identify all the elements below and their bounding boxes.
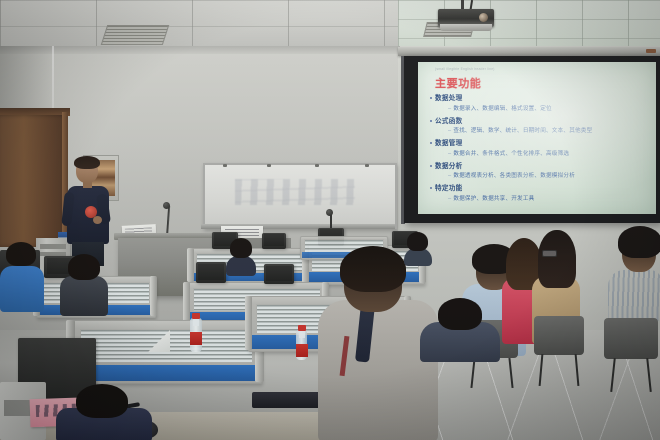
projected-slide: (small illegible English header line) 主要… (418, 62, 656, 214)
chair-leg (610, 358, 616, 392)
soda-bottle (190, 318, 202, 352)
monitor-screen (264, 234, 284, 246)
partition-post (183, 282, 190, 324)
partition-post (187, 248, 194, 282)
bottle-cap (192, 313, 200, 319)
chair-leg (508, 358, 513, 388)
projector-base (440, 24, 492, 31)
student-mid-row (420, 300, 500, 360)
monitor-screen (266, 266, 291, 281)
chair-leg (575, 354, 580, 386)
soda-bottle (296, 330, 307, 360)
whiteboard-clip (365, 164, 369, 167)
monitor (264, 264, 294, 284)
projector-lens-icon (479, 13, 488, 22)
bottle-label (190, 332, 202, 345)
chair-back (604, 318, 658, 359)
microphone-icon (326, 209, 333, 216)
student-navy-front (56, 390, 152, 440)
whiteboard-erased-writing (235, 179, 355, 205)
chair-leg (646, 358, 652, 392)
student-blue-jacket (0, 250, 46, 310)
student-hair (230, 238, 252, 258)
monitor (262, 233, 286, 249)
presenter (62, 158, 114, 263)
student-torso (60, 276, 108, 316)
chair[interactable] (604, 318, 658, 392)
bottle-neck (299, 330, 305, 338)
monitor-screen (198, 264, 223, 280)
monitor (196, 262, 226, 283)
whiteboard-clip (315, 164, 319, 167)
student-hair (6, 242, 36, 266)
glasses-icon (542, 250, 557, 257)
partition-post (245, 296, 252, 350)
student-hair (340, 246, 406, 292)
door[interactable] (0, 115, 68, 247)
classroom-photo: (small illegible English header line) 主要… (0, 0, 660, 440)
projection-screen-housing (398, 47, 660, 56)
student-dark-left (58, 254, 110, 314)
bottle-cap (298, 325, 306, 331)
wall-soffit (0, 46, 400, 54)
screen-glare (418, 62, 656, 214)
student-back-row (404, 232, 432, 264)
presenter-hand (93, 216, 102, 224)
student-hair (407, 232, 428, 251)
ceiling-vent-icon (101, 25, 169, 45)
projector-icon (438, 9, 494, 27)
microphone-icon (163, 202, 170, 209)
projection-screen-frame: (small illegible English header line) 主要… (404, 56, 660, 223)
student-hair (618, 226, 660, 258)
partition-blue-panel (74, 365, 256, 381)
presenter-hair (74, 156, 100, 169)
bottle-neck (193, 318, 199, 326)
screen-housing-cap (646, 49, 656, 53)
bottle-label (296, 344, 308, 357)
student-torso (226, 256, 256, 276)
chair-back (534, 316, 584, 355)
student-hair (538, 230, 576, 288)
whiteboard-clip (223, 164, 227, 167)
chair[interactable] (534, 316, 584, 386)
whiteboard-clip (267, 164, 271, 167)
whiteboard (203, 163, 397, 229)
student-back-row (226, 238, 256, 272)
student-hair (76, 384, 128, 418)
chair-leg (539, 354, 544, 386)
student-hair (438, 298, 482, 330)
chair-leg (470, 358, 475, 388)
student-hair (68, 254, 100, 280)
partition-post (150, 276, 157, 316)
student-torso (0, 266, 44, 312)
